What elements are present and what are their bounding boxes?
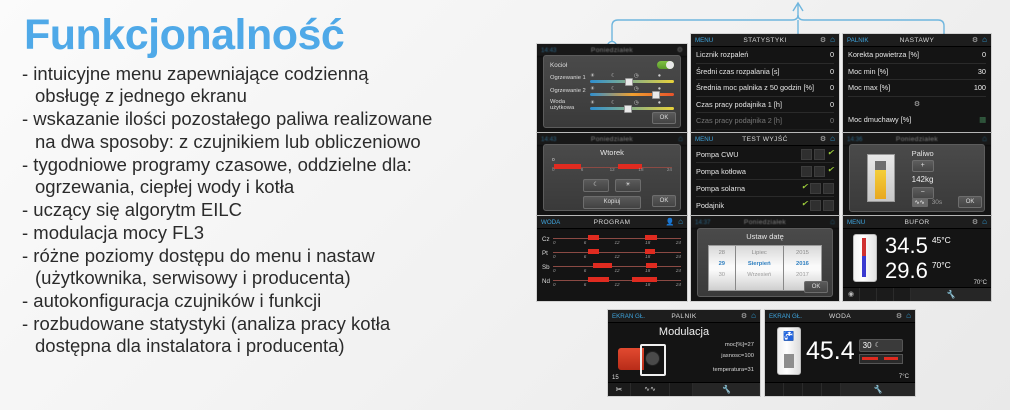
table-row[interactable]: Podajnik ✔ xyxy=(696,197,834,213)
wrench-icon[interactable]: ⚙ xyxy=(741,313,747,320)
home-icon[interactable]: ⌂ xyxy=(751,312,756,320)
axis-tick: 12 xyxy=(610,167,615,172)
axis-tick: 6 xyxy=(581,167,584,172)
clock-icon: ◷ xyxy=(634,86,639,92)
table-row[interactable]: Średnia moc palnika z 50 godzin [%]0 xyxy=(696,80,834,97)
schedule-day-row[interactable]: Cz 06121824 xyxy=(542,232,681,246)
buffer-set-top: 45°C xyxy=(932,235,951,245)
row-label: Korekta powietrza [%] xyxy=(848,50,919,59)
check-icon: ✔ xyxy=(827,149,834,160)
panel-statistics[interactable]: MENU STATYSTYKI ⚙⌂ Licznik rozpaleń0 Śre… xyxy=(691,34,839,132)
heating2-label: Ogrzewanie 2 xyxy=(550,88,590,94)
row-label: Czas pracy podajnika 2 [h] xyxy=(696,116,782,125)
buffer-temp-bottom: 29.6 xyxy=(885,260,928,282)
copy-button[interactable]: Kopiuj xyxy=(583,196,641,209)
wrench-icon[interactable]: 🔧 xyxy=(693,383,759,396)
home-icon[interactable]: ⌂ xyxy=(906,312,911,320)
buffer-tank-graphic xyxy=(853,234,877,282)
schedule-segment[interactable] xyxy=(554,164,580,169)
table-row[interactable]: Pompa solarna ✔ xyxy=(696,180,834,197)
list-item: - rozbudowane statystyki (analiza pracy … xyxy=(22,313,522,358)
table-row[interactable]: Moc dmuchawy [%]▦ xyxy=(848,112,986,128)
moon-mode-button[interactable]: ☾ xyxy=(583,179,609,192)
schedule-day-row[interactable]: Pt 06121824 xyxy=(542,246,681,260)
toolbar-slot[interactable] xyxy=(894,288,911,301)
mode-icon-group[interactable]: ☀☾◷● xyxy=(590,100,674,106)
weekly-schedule: Cz 06121824 Pt 06121824 Sb 06121824 Nd xyxy=(537,229,687,288)
spinner-below: Wrzesień xyxy=(736,267,783,278)
fan-icon[interactable]: ∿∿ xyxy=(912,198,928,207)
sun-icon: ☀ xyxy=(590,100,595,106)
panel-date-picker[interactable]: 14:37Poniedziałek⌂ Ustaw datę 28 29 30 L… xyxy=(691,216,839,301)
list-item: - uczący się algorytm EILC xyxy=(22,199,522,221)
wrench-icon[interactable]: ⚙ xyxy=(820,37,826,44)
row-label: Moc dmuchawy [%] xyxy=(848,115,911,124)
panel-title: PALNIK xyxy=(608,313,760,320)
burner-corner-value: 15 xyxy=(612,375,619,381)
water-badge: 30 xyxy=(863,341,872,350)
row-label: Pompa kotłowa xyxy=(696,167,746,176)
tools-icon[interactable]: ✂ xyxy=(608,383,631,396)
heating1-label: Ogrzewanie 1 xyxy=(550,75,590,81)
row-label: Podajnik xyxy=(696,201,724,210)
burner-stats: moc[%]=27 jasnosc=100 temperatura=31 xyxy=(713,340,754,376)
dialog-title: Wtorek xyxy=(544,145,680,157)
heating2-row[interactable]: Ogrzewanie 2 ☀☾◷● xyxy=(550,86,674,96)
stat-temperature: temperatura=31 xyxy=(713,365,754,376)
modulation-heading: Modulacja xyxy=(608,326,760,338)
row-value: 30 xyxy=(978,67,986,76)
row-label: Licznik rozpaleń xyxy=(696,50,748,59)
day-label: Cz xyxy=(542,236,550,243)
row-label: Moc max [%] xyxy=(848,83,890,92)
row-label: Pompa solarna xyxy=(696,184,745,193)
clock-icon: ◷ xyxy=(634,73,639,79)
heating2-slider[interactable] xyxy=(590,93,674,96)
toolbar-slot[interactable] xyxy=(784,383,803,396)
title-bar: MENU STATYSTYKI ⚙⌂ xyxy=(691,34,839,47)
title-bar: PALNIK NASTAWY ⚙⌂ xyxy=(843,34,991,47)
table-row[interactable]: Moc min [%]30 xyxy=(848,64,986,81)
spinner-above: 2015 xyxy=(784,246,821,256)
water-mini-schedule[interactable] xyxy=(859,354,903,364)
dot-icon: ● xyxy=(658,100,661,106)
wrench-icon[interactable]: ⚙ xyxy=(972,219,978,226)
fuel-dialog[interactable]: Paliwo + 142kg − ∿∿ 30s OK xyxy=(849,144,985,211)
home-icon[interactable]: ⌂ xyxy=(982,218,987,226)
day-label: Sb xyxy=(542,264,550,271)
bottom-toolbar[interactable]: ✂ ∿∿ 🔧 xyxy=(608,382,760,396)
water-corner-value: 7°C xyxy=(899,374,909,380)
fan-icon[interactable]: ∿∿ xyxy=(631,383,670,396)
title-bar: WODA PROGRAM 👤⌂ xyxy=(537,216,687,229)
burner-graphic xyxy=(618,342,664,374)
toolbar-slot[interactable] xyxy=(670,383,693,396)
moon-icon: ☾ xyxy=(875,341,881,349)
list-item: - modulacja mocy FL3 xyxy=(22,222,522,244)
toolbar-slot[interactable] xyxy=(877,288,894,301)
boiler-label: Kocioł xyxy=(550,62,657,69)
date-dialog[interactable]: Ustaw datę 28 29 30 Lipiec Sierpień Wrze… xyxy=(697,228,833,297)
title-bar: EKRAN GŁ. WODA ⚙⌂ xyxy=(765,310,915,323)
day-label: Pt xyxy=(542,250,550,257)
ok-button[interactable]: OK xyxy=(652,195,676,207)
spinner-selected: 29 xyxy=(709,256,735,267)
sun-icon: ☀ xyxy=(590,86,595,92)
wrench-icon[interactable]: ⚙ xyxy=(820,136,826,143)
row-value: 0 xyxy=(830,116,834,125)
day-spinner[interactable]: 28 29 30 xyxy=(709,246,736,290)
row-value: 0 xyxy=(830,67,834,76)
table-row[interactable]: Czas pracy podajnika 2 [h]0 xyxy=(696,113,834,130)
axis-tick: 24 xyxy=(667,167,672,172)
fuel-title: Paliwo xyxy=(912,149,980,158)
spinner-selected: Sierpień xyxy=(736,256,783,267)
panel-boiler-control[interactable]: 14:43Poniedziałek⚙ Kocioł Ogrzewanie 1 ☀… xyxy=(537,44,687,132)
title-bar: MENU TEST WYJŚĆ ⚙⌂ xyxy=(691,133,839,146)
row-value: 0 xyxy=(830,83,834,92)
stat-power: moc[%]=27 xyxy=(713,340,754,351)
dialog-title: Ustaw datę xyxy=(698,229,832,241)
settings-slot[interactable]: 🔧 xyxy=(693,383,760,396)
panel-buffer[interactable]: MENU BUFOR ⚙⌂ 34.5 45°C 29.6 70°C 70°C ◉… xyxy=(843,216,991,301)
panel-fuel[interactable]: 14:36Poniedziałek⌂ Paliwo + 142kg − ∿∿ 3… xyxy=(843,133,991,215)
buffer-temp-top: 34.5 xyxy=(885,235,928,257)
list-item: - intuicyjne menu zapewniające codzienną… xyxy=(22,63,522,108)
bottom-toolbar[interactable]: ◉ 🔧 xyxy=(843,287,991,301)
ok-button[interactable]: OK xyxy=(804,281,828,293)
heating1-row[interactable]: Ogrzewanie 1 ☀☾◷● xyxy=(550,73,674,83)
fuel-gauge[interactable] xyxy=(850,145,912,210)
feature-list: - intuicyjne menu zapewniające codzienną… xyxy=(22,63,522,357)
table-row[interactable]: Czas pracy podajnika 1 [h]0 xyxy=(696,97,834,114)
slide-text-column: Funkcjonalność - intuicyjne menu zapewni… xyxy=(22,14,522,358)
panel-day-schedule[interactable]: 14:43Poniedziałek⌂ Wtorek 0 0 6 12 18 24… xyxy=(537,133,687,215)
clock-icon: ◷ xyxy=(634,100,639,106)
ok-button[interactable]: OK xyxy=(652,112,676,124)
row-label: Moc min [%] xyxy=(848,67,888,76)
spinner-above: 28 xyxy=(709,246,735,256)
day-label: Nd xyxy=(542,278,550,285)
buffer-set-bottom: 70°C xyxy=(932,260,951,270)
list-item: - tygodniowe programy czasowe, oddzielne… xyxy=(22,154,522,199)
page-title: Funkcjonalność xyxy=(24,14,522,57)
toolbar-slot[interactable] xyxy=(803,383,822,396)
increase-button[interactable]: + xyxy=(912,160,934,172)
toolbar-slot[interactable] xyxy=(765,383,784,396)
toolbar-slot[interactable] xyxy=(822,383,841,396)
row-label: Średni czas rozpalania [s] xyxy=(696,67,780,76)
dot-icon: ● xyxy=(658,73,661,79)
axis-tick: 18 xyxy=(638,167,643,172)
moon-icon: ☾ xyxy=(611,100,616,106)
row-value: 100 xyxy=(974,83,986,92)
spinner-below: 2017 xyxy=(784,267,821,278)
stat-brightness: jasnosc=100 xyxy=(713,351,754,362)
panel-water-program[interactable]: WODA PROGRAM 👤⌂ Cz 06121824 Pt 06121824 … xyxy=(537,216,687,301)
list-item: - autokonfiguracja czujników i funkcji xyxy=(22,290,522,312)
state-cells[interactable]: ✔ xyxy=(801,149,834,160)
table-row[interactable]: Moc max [%]100 xyxy=(848,80,986,97)
mode-icon-group[interactable]: ☀☾◷● xyxy=(590,86,674,92)
home-icon[interactable]: ⌂ xyxy=(982,36,987,44)
statistics-rows: Licznik rozpaleń0 Średni czas rozpalania… xyxy=(691,47,839,130)
table-row[interactable]: Średni czas rozpalania [s]0 xyxy=(696,64,834,81)
row-value: 0 xyxy=(830,100,834,109)
axis-tick: 0 xyxy=(552,167,555,172)
home-icon[interactable]: ⌂ xyxy=(830,135,835,143)
day-schedule-dialog[interactable]: Wtorek 0 0 6 12 18 24 ☾ ☀ Kopiuj OK xyxy=(543,144,681,211)
row-label: Czas pracy podajnika 1 [h] xyxy=(696,100,782,109)
panel-output-test[interactable]: MENU TEST WYJŚĆ ⚙⌂ Pompa CWU ✔ Pompa kot… xyxy=(691,133,839,215)
zero-label: 0 xyxy=(552,158,555,163)
fuel-timer: 30s xyxy=(932,199,942,206)
list-item: - wskazanie ilości pozostałego paliwa re… xyxy=(22,108,522,153)
check-icon: ✔ xyxy=(801,183,808,194)
settings-slot[interactable]: 🔧 xyxy=(841,383,915,396)
wrench-icon[interactable]: ⚙ xyxy=(972,37,978,44)
state-cells[interactable]: ✔ xyxy=(801,200,834,211)
title-bar: EKRAN GŁ. PALNIK ⚙⌂ xyxy=(608,310,760,323)
panel-burner-main[interactable]: EKRAN GŁ. PALNIK ⚙⌂ Modulacja moc[%]=27 … xyxy=(608,310,760,396)
wrench-icon[interactable]: 🔧 xyxy=(911,288,990,301)
output-test-rows: Pompa CWU ✔ Pompa kotłowa ✔ Pompa solarn… xyxy=(691,146,839,213)
row-value: 0 xyxy=(830,50,834,59)
state-cells[interactable]: ✔ xyxy=(801,183,834,194)
home-icon[interactable]: ⌂ xyxy=(830,36,835,44)
bottom-toolbar[interactable]: 🔧 xyxy=(765,382,915,396)
title-bar: MENU BUFOR ⚙⌂ xyxy=(843,216,991,229)
toolbar-slot[interactable] xyxy=(860,288,877,301)
table-row[interactable]: Korekta powietrza [%]0 xyxy=(848,47,986,64)
buffer-corner-value: 70°C xyxy=(974,280,987,286)
wrench-icon: ⚙ xyxy=(914,101,920,108)
heating1-slider[interactable] xyxy=(590,80,674,83)
row-label: Średnia moc palnika z 50 godzin [%] xyxy=(696,83,814,92)
day-track[interactable]: 06121824 xyxy=(553,262,681,272)
boiler-toggle[interactable] xyxy=(657,61,674,69)
table-row[interactable]: Pompa kotłowa ✔ xyxy=(696,163,834,180)
row-label: Pompa CWU xyxy=(696,150,739,159)
buffer-body: 34.5 45°C 29.6 70°C xyxy=(843,229,991,282)
panel-burner-settings[interactable]: PALNIK NASTAWY ⚙⌂ Korekta powietrza [%]0… xyxy=(843,34,991,132)
wrench-icon[interactable]: ⚙ xyxy=(896,313,902,320)
month-spinner[interactable]: Lipiec Sierpień Wrzesień xyxy=(736,246,784,290)
user-icon[interactable]: 👤 xyxy=(665,219,674,226)
home-icon[interactable]: ⌂ xyxy=(678,218,683,226)
spinner-below: 30 xyxy=(709,267,735,278)
ok-button[interactable]: OK xyxy=(958,196,982,208)
sun-mode-button[interactable]: ☀ xyxy=(615,179,641,192)
panel-title: NASTAWY xyxy=(843,37,991,44)
row-value: 0 xyxy=(982,50,986,59)
hot-water-label: Woda użytkowa xyxy=(550,99,590,111)
chart-icon: ▦ xyxy=(979,115,986,124)
check-icon: ✔ xyxy=(827,166,834,177)
table-row[interactable]: Licznik rozpaleń0 xyxy=(696,47,834,64)
schedule-day-row[interactable]: Sb 06121824 xyxy=(542,260,681,274)
table-row[interactable]: Pompa CWU ✔ xyxy=(696,146,834,163)
state-cells[interactable]: ✔ xyxy=(801,166,834,177)
settings-slot[interactable]: 🔧 xyxy=(911,288,991,301)
divider-icon-row: ⚙ xyxy=(848,97,986,113)
day-track[interactable]: 06121824 xyxy=(553,276,681,286)
sun-icon: ☀ xyxy=(590,73,595,79)
hot-water-row[interactable]: Woda użytkowa ☀☾◷● xyxy=(550,99,674,111)
schedule-track[interactable]: 0 0 6 12 18 24 xyxy=(552,162,672,176)
toolbar-slot[interactable]: ◉ xyxy=(843,288,860,301)
panel-water-main[interactable]: EKRAN GŁ. WODA ⚙⌂ 🚰 45.4 30 ☾ 7°C 🔧 xyxy=(765,310,915,396)
hot-water-slider[interactable] xyxy=(590,107,674,110)
panel-title: TEST WYJŚĆ xyxy=(691,136,839,143)
wrench-icon[interactable]: 🔧 xyxy=(841,383,914,396)
water-tank-graphic: 🚰 xyxy=(777,327,801,375)
schedule-day-row[interactable]: Nd 06121824 xyxy=(542,274,681,288)
spinner-selected: 2016 xyxy=(784,256,821,267)
check-icon: ✔ xyxy=(801,200,808,211)
spinner-above: Lipiec xyxy=(736,246,783,256)
list-item: - różne poziomy dostępu do menu i nastaw… xyxy=(22,245,522,290)
panel-title: BUFOR xyxy=(843,219,991,226)
panel-title: WODA xyxy=(765,313,915,320)
panel-title: STATYSTYKI xyxy=(691,37,839,44)
moon-icon: ☾ xyxy=(611,86,616,92)
water-temperature: 45.4 xyxy=(806,339,855,364)
day-track[interactable]: 06121824 xyxy=(553,248,681,258)
fuel-amount: 142kg xyxy=(912,175,980,184)
boiler-control-dialog[interactable]: Kocioł Ogrzewanie 1 ☀☾◷● Ogrzewanie 2 ☀☾… xyxy=(543,55,681,127)
settings-rows: Korekta powietrza [%]0 Moc min [%]30 Moc… xyxy=(843,47,991,128)
day-track[interactable]: 06121824 xyxy=(553,234,681,244)
moon-icon: ☾ xyxy=(611,73,616,79)
